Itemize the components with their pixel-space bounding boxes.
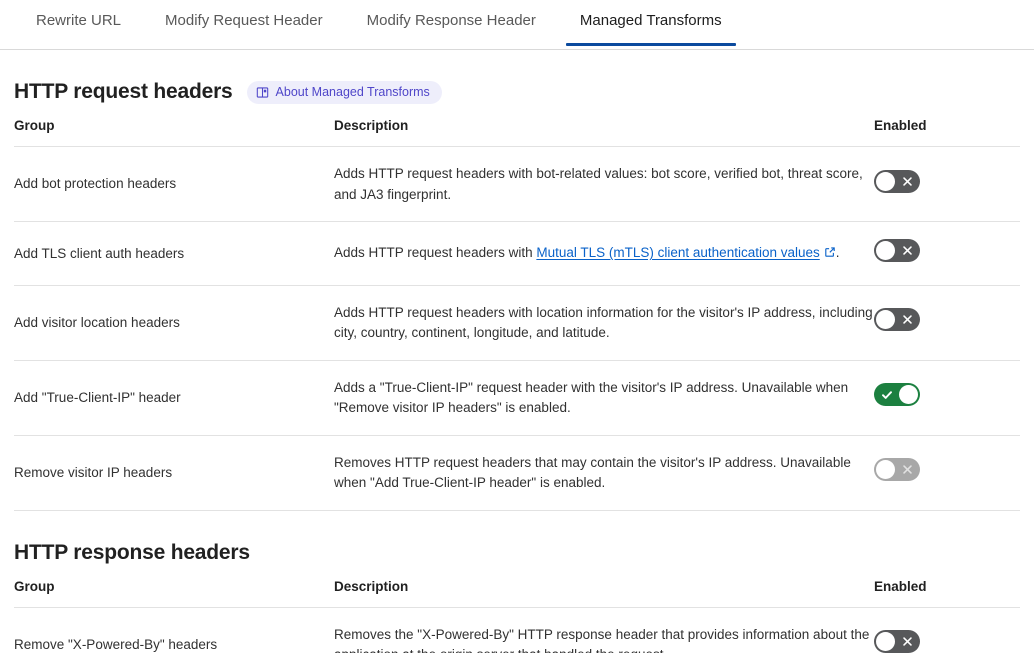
table-row: Remove visitor IP headersRemoves HTTP re… bbox=[14, 435, 1020, 510]
column-header-enabled: Enabled bbox=[874, 579, 1020, 608]
external-link-icon bbox=[824, 244, 836, 265]
sections-container: HTTP request headersAbout Managed Transf… bbox=[0, 80, 1034, 653]
row-description: Removes HTTP request headers that may co… bbox=[334, 455, 851, 491]
row-description-cell: Adds HTTP request headers with location … bbox=[334, 285, 874, 360]
description-suffix: . bbox=[836, 245, 840, 260]
row-enabled-cell bbox=[874, 222, 1020, 286]
row-group-name: Remove visitor IP headers bbox=[14, 465, 172, 480]
close-icon bbox=[902, 170, 913, 193]
row-group-name: Add "True-Client-IP" header bbox=[14, 390, 181, 405]
toggle-knob bbox=[876, 310, 895, 329]
tab-modify-request-header[interactable]: Modify Request Header bbox=[143, 0, 345, 46]
row-description: Adds a "True-Client-IP" request header w… bbox=[334, 380, 848, 416]
row-enabled-cell bbox=[874, 360, 1020, 435]
managed-transforms-table: GroupDescriptionEnabledAdd bot protectio… bbox=[14, 118, 1020, 511]
row-description-cell: Adds HTTP request headers with bot-relat… bbox=[334, 147, 874, 222]
row-group-name: Add bot protection headers bbox=[14, 176, 176, 191]
row-description-cell: Adds HTTP request headers with Mutual TL… bbox=[334, 222, 874, 286]
row-description: Adds HTTP request headers with bot-relat… bbox=[334, 166, 863, 202]
row-group-name: Add visitor location headers bbox=[14, 315, 180, 330]
row-enabled-cell bbox=[874, 285, 1020, 360]
table-row: Add bot protection headersAdds HTTP requ… bbox=[14, 147, 1020, 222]
column-header-enabled: Enabled bbox=[874, 118, 1020, 147]
row-description: Adds HTTP request headers with location … bbox=[334, 305, 873, 341]
section-0: HTTP request headersAbout Managed Transf… bbox=[0, 80, 1034, 511]
row-description-cell: Removes the "X-Powered-By" HTTP response… bbox=[334, 607, 874, 653]
row-description: Removes the "X-Powered-By" HTTP response… bbox=[334, 627, 869, 653]
toggle-knob bbox=[876, 172, 895, 191]
description-prefix: Adds HTTP request headers with bbox=[334, 245, 536, 260]
row-group-name: Remove "X-Powered-By" headers bbox=[14, 637, 217, 652]
row-enabled-cell bbox=[874, 435, 1020, 510]
row-enabled-cell bbox=[874, 147, 1020, 222]
close-icon bbox=[902, 630, 913, 653]
page-title: HTTP request headers bbox=[14, 80, 233, 104]
column-header-group: Group bbox=[14, 579, 334, 608]
row-description-cell: Adds a "True-Client-IP" request header w… bbox=[334, 360, 874, 435]
column-header-description: Description bbox=[334, 118, 874, 147]
row-description-cell: Removes HTTP request headers that may co… bbox=[334, 435, 874, 510]
enabled-toggle[interactable] bbox=[874, 308, 920, 331]
tab-rewrite-url[interactable]: Rewrite URL bbox=[14, 0, 143, 46]
toggle-knob bbox=[876, 632, 895, 651]
close-icon bbox=[902, 239, 913, 262]
enabled-toggle[interactable] bbox=[874, 170, 920, 193]
column-header-group: Group bbox=[14, 118, 334, 147]
mtls-docs-link[interactable]: Mutual TLS (mTLS) client authentication … bbox=[536, 245, 819, 260]
enabled-toggle[interactable] bbox=[874, 383, 920, 406]
enabled-toggle[interactable] bbox=[874, 630, 920, 653]
table-row: Add TLS client auth headersAdds HTTP req… bbox=[14, 222, 1020, 286]
tab-managed-transforms[interactable]: Managed Transforms bbox=[558, 0, 744, 46]
check-icon bbox=[881, 383, 893, 406]
column-header-description: Description bbox=[334, 579, 874, 608]
row-group-name: Add TLS client auth headers bbox=[14, 246, 184, 261]
enabled-toggle bbox=[874, 458, 920, 481]
enabled-toggle[interactable] bbox=[874, 239, 920, 262]
badge-label: About Managed Transforms bbox=[276, 85, 430, 100]
toggle-knob bbox=[899, 385, 918, 404]
close-icon bbox=[902, 458, 913, 481]
page-title: HTTP response headers bbox=[14, 541, 250, 565]
managed-transforms-table: GroupDescriptionEnabledRemove "X-Powered… bbox=[14, 579, 1020, 653]
row-enabled-cell bbox=[874, 607, 1020, 653]
tab-bar: Rewrite URLModify Request HeaderModify R… bbox=[0, 0, 1034, 50]
table-row: Remove "X-Powered-By" headersRemoves the… bbox=[14, 607, 1020, 653]
table-row: Add "True-Client-IP" headerAdds a "True-… bbox=[14, 360, 1020, 435]
toggle-knob bbox=[876, 241, 895, 260]
about-managed-transforms-badge[interactable]: About Managed Transforms bbox=[247, 81, 442, 104]
close-icon bbox=[902, 308, 913, 331]
toggle-knob bbox=[876, 460, 895, 479]
book-icon bbox=[256, 86, 269, 99]
section-header: HTTP response headers bbox=[14, 541, 1020, 565]
section-header: HTTP request headersAbout Managed Transf… bbox=[14, 80, 1020, 104]
section-1: HTTP response headersGroupDescriptionEna… bbox=[0, 541, 1034, 653]
table-row: Add visitor location headersAdds HTTP re… bbox=[14, 285, 1020, 360]
tab-modify-response-header[interactable]: Modify Response Header bbox=[345, 0, 558, 46]
